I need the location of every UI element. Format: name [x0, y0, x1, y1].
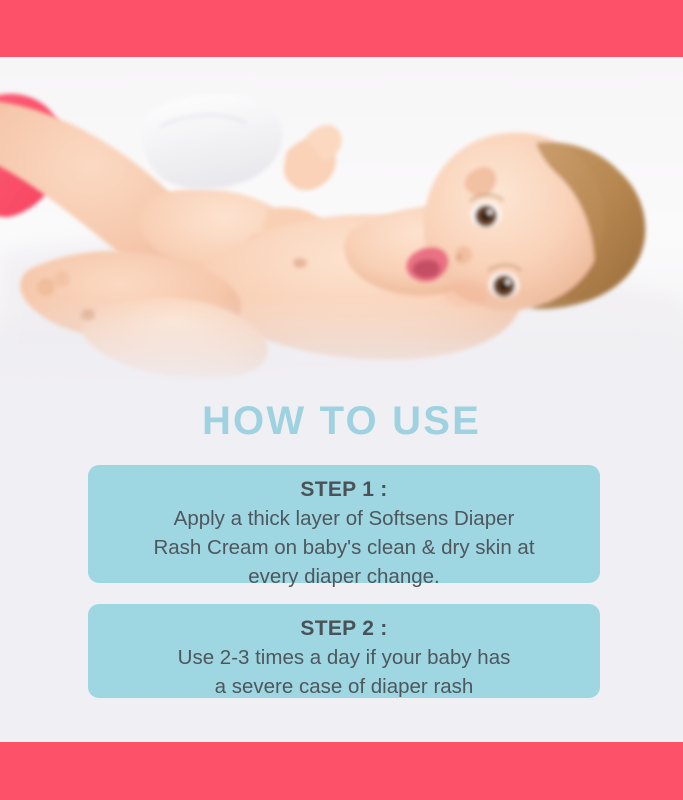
- step-2-body: Use 2-3 times a day if your baby has a s…: [102, 643, 586, 701]
- step-card-1: STEP 1 : Apply a thick layer of Softsens…: [88, 465, 600, 583]
- step-1-body: Apply a thick layer of Softsens Diaper R…: [102, 504, 586, 591]
- step-card-2: STEP 2 : Use 2-3 times a day if your bab…: [88, 604, 600, 698]
- step-2-title: STEP 2 :: [102, 614, 586, 643]
- step-1-title: STEP 1 :: [102, 475, 586, 504]
- page-title: HOW TO USE: [0, 398, 683, 444]
- bottom-brand-band: [0, 742, 683, 800]
- baby-changing-photo-illustration: [0, 57, 683, 387]
- hero-photo: [0, 57, 683, 387]
- how-to-use-poster: HOW TO USE STEP 1 : Apply a thick layer …: [0, 0, 683, 800]
- top-brand-band: [0, 0, 683, 57]
